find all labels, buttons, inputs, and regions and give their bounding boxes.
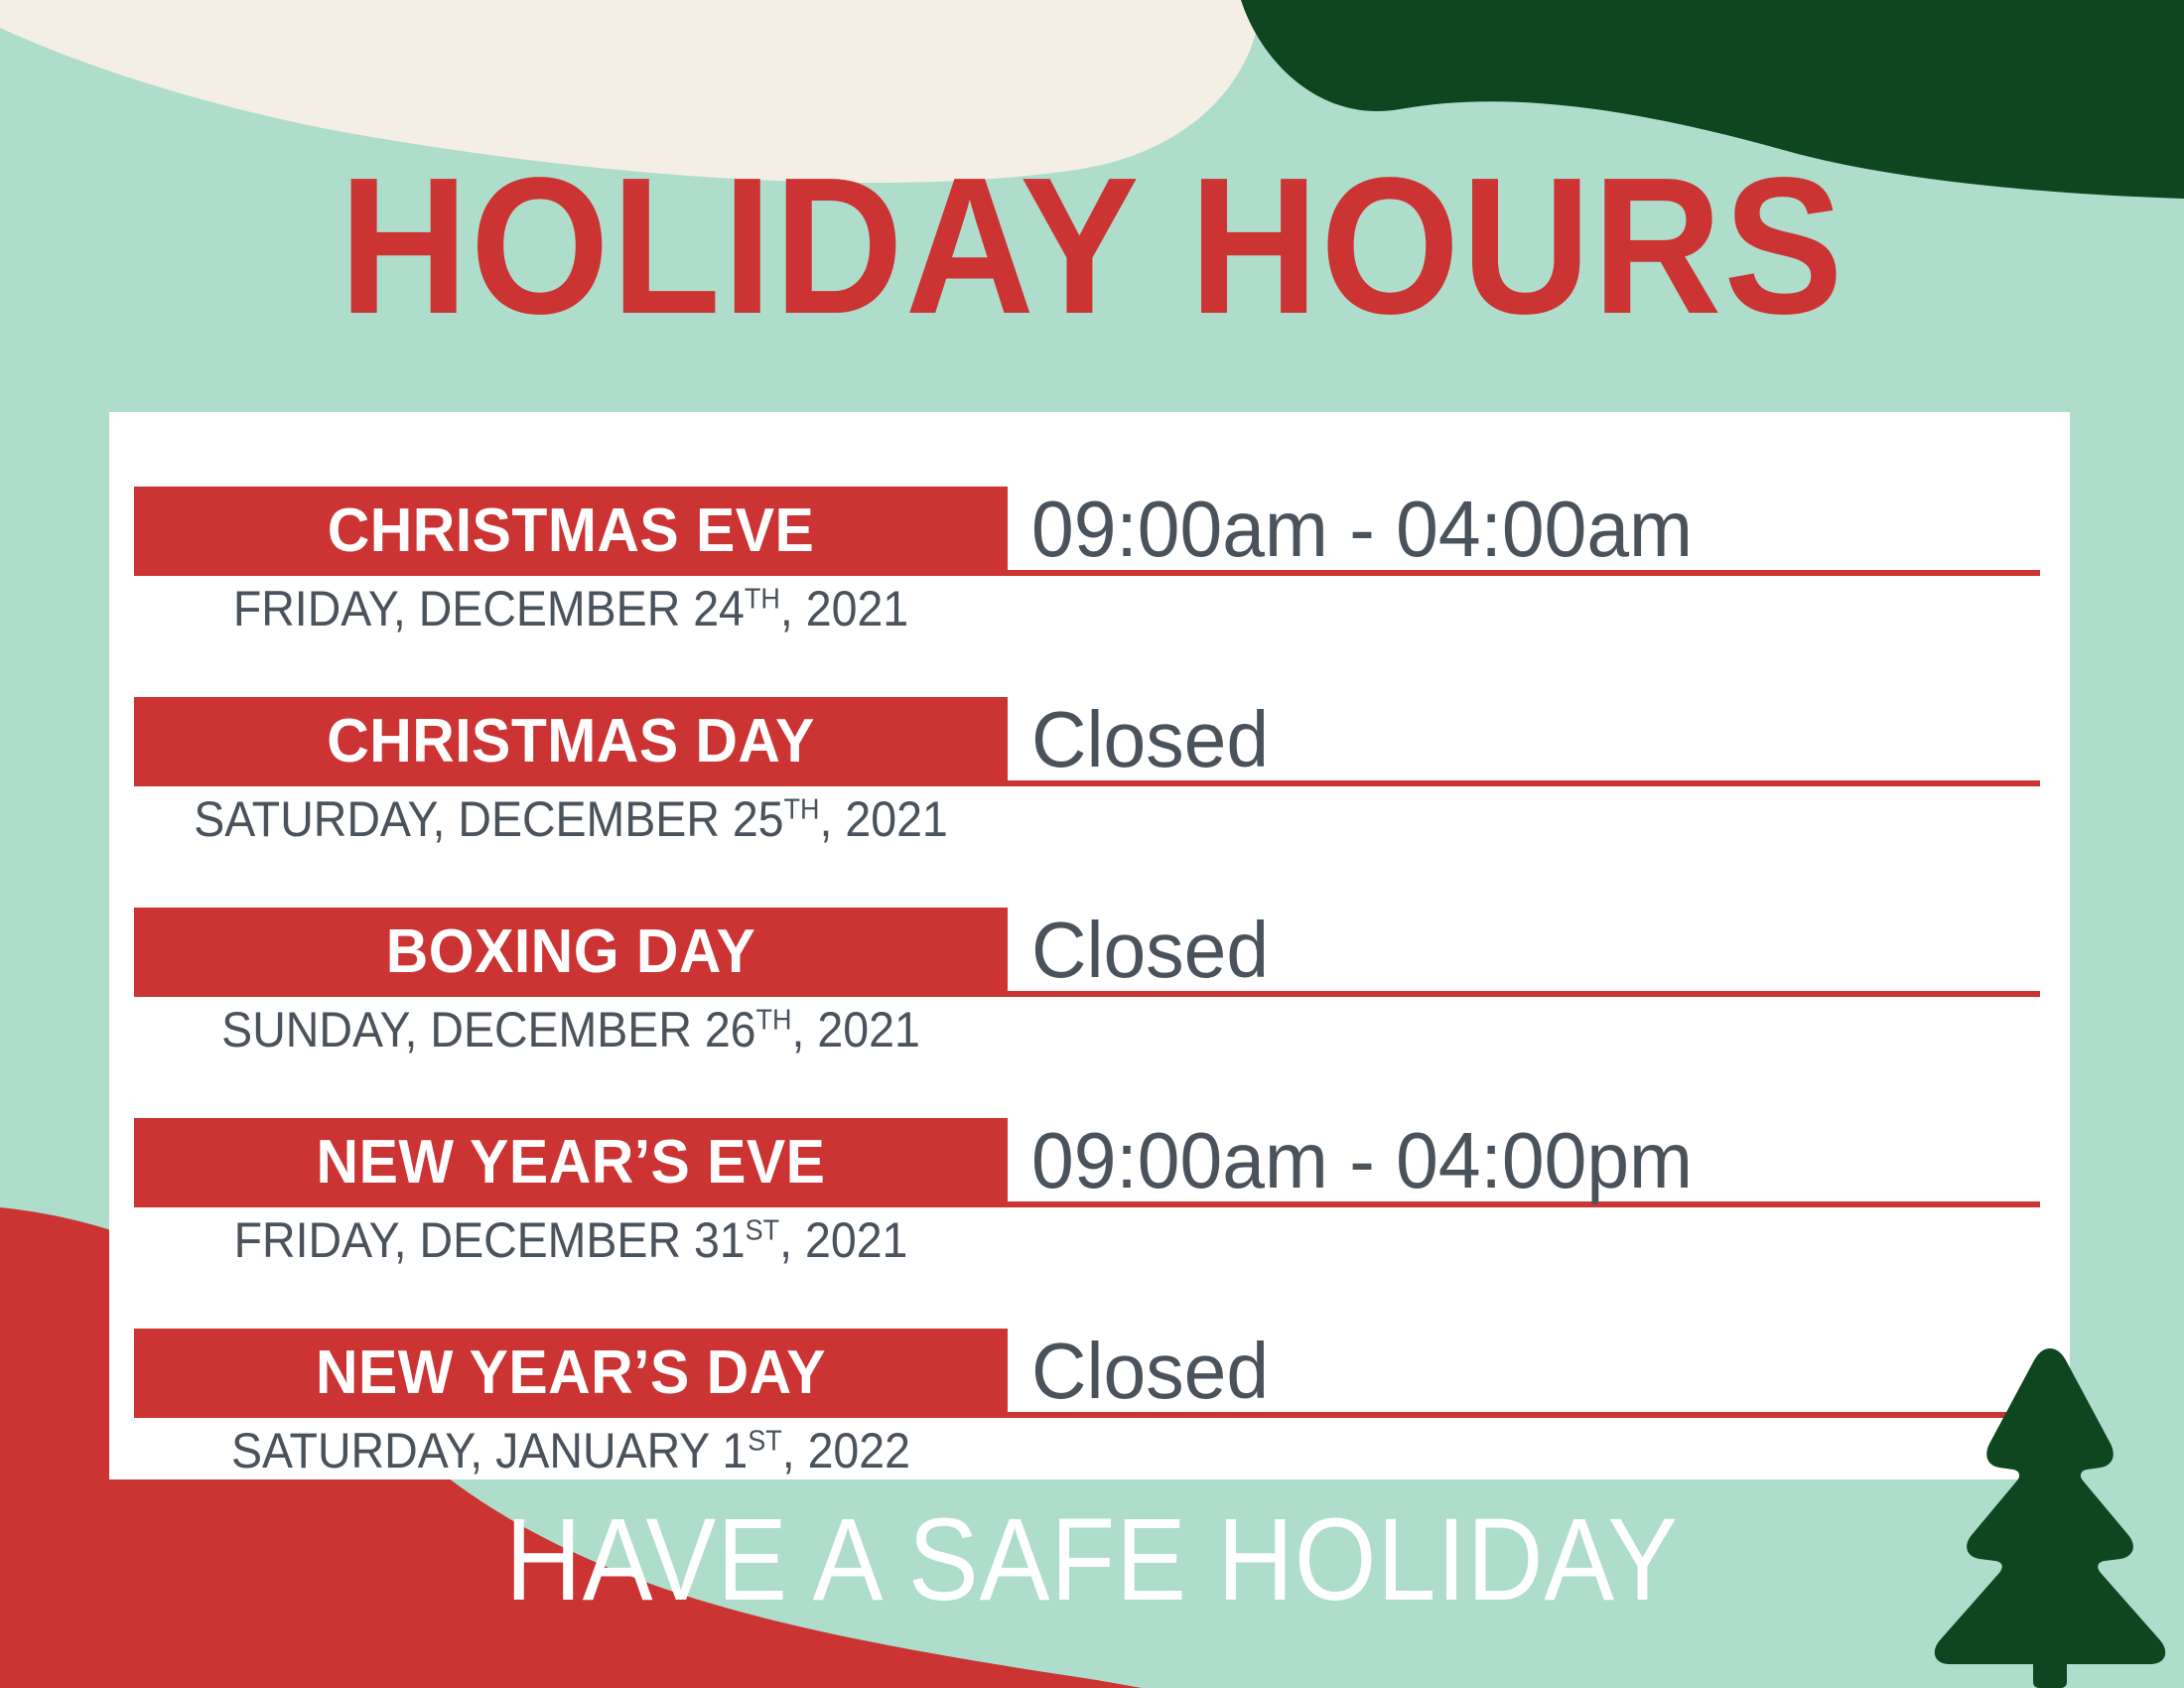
schedule-card: CHRISTMAS EVE FRIDAY, DECEMBER 24TH, 202… [109, 412, 2070, 1479]
hours-cell: Closed [1008, 902, 2040, 997]
holiday-date-prefix: SATURDAY, JANUARY 1 [231, 1423, 748, 1478]
holiday-name-chip: NEW YEAR’S EVE [134, 1118, 1008, 1207]
holiday-date-prefix: SATURDAY, DECEMBER 25 [194, 791, 783, 847]
holiday-date-suffix: , 2021 [779, 1212, 907, 1268]
holiday-name: CHRISTMAS EVE [181, 500, 962, 562]
christmas-tree-icon [1916, 1340, 2184, 1688]
holiday-date-ordinal: TH [745, 583, 780, 615]
hours-cell: Closed [1008, 1323, 2040, 1418]
holiday-name: CHRISTMAS DAY [181, 711, 962, 773]
holiday-name-chip: CHRISTMAS EVE [134, 487, 1008, 576]
table-row: CHRISTMAS DAY SATURDAY, DECEMBER 25TH, 2… [109, 697, 2070, 908]
table-row: BOXING DAY SUNDAY, DECEMBER 26TH, 2021 C… [109, 908, 2070, 1118]
holiday-name-chip: CHRISTMAS DAY [134, 697, 1008, 786]
holiday-date: SATURDAY, DECEMBER 25TH, 2021 [165, 792, 977, 847]
hours-cell: Closed [1008, 691, 2040, 786]
hours-value: 09:00am - 04:00am [1008, 489, 1693, 570]
holiday-date-ordinal: ST [748, 1425, 781, 1457]
holiday-date-ordinal: TH [784, 793, 820, 825]
hours-cell: 09:00am - 04:00pm [1008, 1112, 2040, 1207]
table-row: NEW YEAR’S EVE FRIDAY, DECEMBER 31ST, 20… [109, 1118, 2070, 1329]
page-title: HOLIDAY HOURS [87, 149, 2097, 344]
holiday-date: SUNDAY, DECEMBER 26TH, 2021 [165, 1003, 977, 1057]
holiday-date: FRIDAY, DECEMBER 24TH, 2021 [165, 582, 977, 636]
hours-value: 09:00am - 04:00pm [1008, 1120, 1693, 1201]
holiday-name-chip: NEW YEAR’S DAY [134, 1329, 1008, 1418]
schedule-rows: CHRISTMAS EVE FRIDAY, DECEMBER 24TH, 202… [109, 412, 2070, 1479]
holiday-date-prefix: SUNDAY, DECEMBER 26 [221, 1002, 755, 1057]
holiday-date-suffix: , 2022 [782, 1423, 910, 1478]
holiday-date-prefix: FRIDAY, DECEMBER 24 [233, 581, 745, 636]
footer-message: HAVE A SAFE HOLIDAY [109, 1501, 2075, 1618]
holiday-date-ordinal: ST [746, 1214, 779, 1246]
holiday-date-prefix: FRIDAY, DECEMBER 31 [234, 1212, 746, 1268]
holiday-date-suffix: , 2021 [780, 581, 908, 636]
hours-value: Closed [1008, 1331, 1269, 1412]
holiday-date-suffix: , 2021 [820, 791, 948, 847]
hours-value: Closed [1008, 910, 1269, 991]
holiday-date: FRIDAY, DECEMBER 31ST, 2021 [165, 1213, 977, 1268]
hours-value: Closed [1008, 699, 1269, 780]
holiday-name: NEW YEAR’S DAY [181, 1342, 962, 1404]
hours-cell: 09:00am - 04:00am [1008, 481, 2040, 576]
holiday-name-chip: BOXING DAY [134, 908, 1008, 997]
holiday-date-suffix: , 2021 [792, 1002, 920, 1057]
holiday-hours-poster: HOLIDAY HOURS CHRISTMAS EVE FRIDAY, DECE… [0, 0, 2184, 1688]
holiday-name: NEW YEAR’S EVE [181, 1132, 962, 1194]
holiday-date-ordinal: TH [756, 1004, 792, 1036]
holiday-date: SATURDAY, JANUARY 1ST, 2022 [165, 1424, 977, 1478]
table-row: CHRISTMAS EVE FRIDAY, DECEMBER 24TH, 202… [109, 487, 2070, 697]
holiday-name: BOXING DAY [181, 921, 962, 983]
